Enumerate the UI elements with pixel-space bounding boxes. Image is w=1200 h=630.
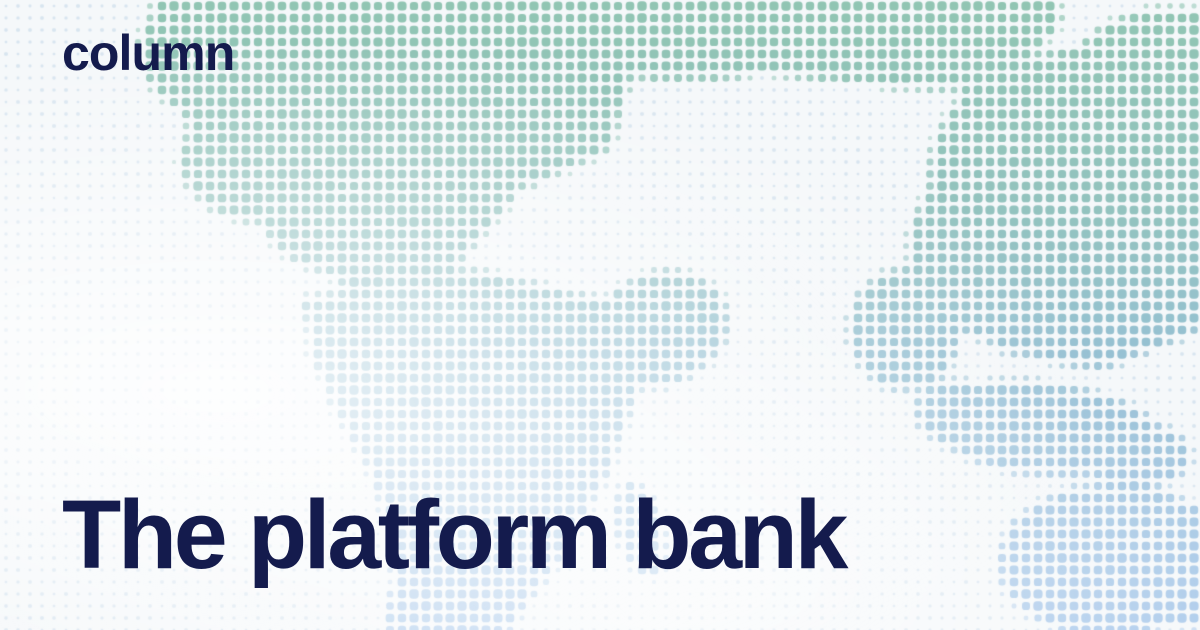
card-content: column The platform bank built for scale (0, 0, 1200, 630)
column-logo[interactable]: column (62, 28, 234, 78)
hero-headline: The platform bank built for scale (62, 367, 962, 630)
hero-headline-line-1: The platform bank (62, 479, 962, 591)
og-card: column The platform bank built for scale (0, 0, 1200, 630)
